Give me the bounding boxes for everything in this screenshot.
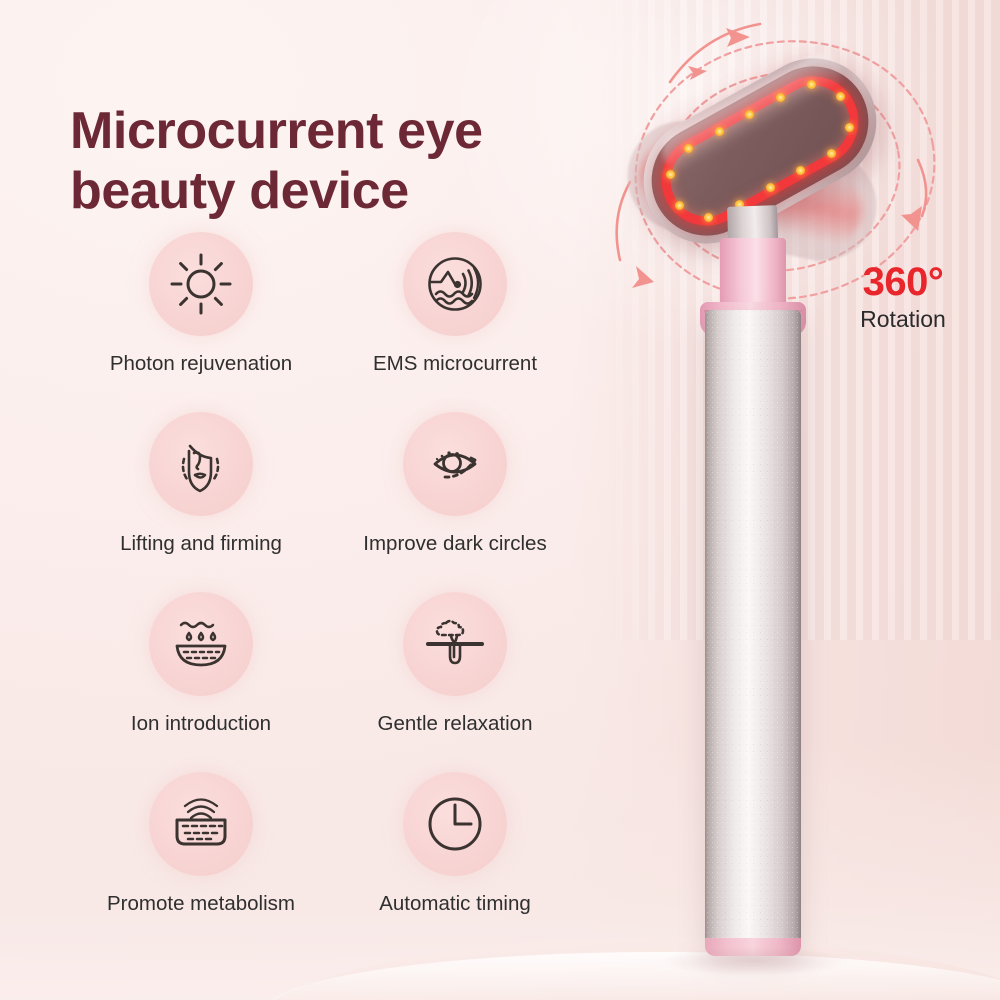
product-poster: Microcurrent eye beauty device bbox=[0, 0, 1000, 1000]
feature-label: Photon rejuvenation bbox=[110, 352, 292, 376]
led-dot bbox=[684, 144, 693, 153]
icon-bubble bbox=[403, 592, 507, 696]
icon-bubble bbox=[149, 772, 253, 876]
ion-droplet-icon bbox=[169, 612, 233, 676]
feature-item-promote-metabolism: Promote metabolism bbox=[74, 772, 328, 952]
title-line-1: Microcurrent eye bbox=[70, 101, 630, 161]
sun-icon bbox=[169, 252, 233, 316]
eye-icon bbox=[423, 432, 487, 496]
device-handle bbox=[705, 310, 801, 950]
clock-icon bbox=[423, 792, 487, 856]
feature-item-photon-rejuvenation: Photon rejuvenation bbox=[74, 232, 328, 412]
feature-item-gentle-relaxation: Gentle relaxation bbox=[328, 592, 582, 772]
product-device-image: 360° Rotation bbox=[600, 10, 1000, 1000]
feature-row-4: Promote metabolism Automatic timing bbox=[74, 772, 594, 952]
handle-texture bbox=[705, 310, 801, 950]
feature-label: Automatic timing bbox=[379, 892, 531, 916]
feature-label: Promote metabolism bbox=[107, 892, 295, 916]
icon-bubble bbox=[149, 232, 253, 336]
led-dot bbox=[766, 183, 775, 192]
skin-wave-icon bbox=[169, 792, 233, 856]
feature-label: Lifting and firming bbox=[120, 532, 282, 556]
icon-bubble bbox=[149, 592, 253, 696]
rotation-badge: 360° Rotation bbox=[843, 262, 963, 334]
rotation-degrees: 360° bbox=[843, 262, 963, 302]
title-line-2: beauty device bbox=[70, 161, 630, 221]
led-dot bbox=[666, 170, 675, 179]
feature-item-ems-microcurrent: EMS microcurrent bbox=[328, 232, 582, 412]
icon-bubble bbox=[403, 412, 507, 516]
feature-row-2: Lifting and firming Improve dark bbox=[74, 412, 594, 592]
feature-label: EMS microcurrent bbox=[373, 352, 537, 376]
feature-item-ion-introduction: Ion introduction bbox=[74, 592, 328, 772]
icon-bubble bbox=[403, 232, 507, 336]
feature-row-1: Photon rejuvenation EMS microcurr bbox=[74, 232, 594, 412]
page-title: Microcurrent eye beauty device bbox=[70, 101, 630, 222]
device-shadow bbox=[660, 946, 850, 976]
feature-row-3: Ion introduction Gentle relaxation bbox=[74, 592, 594, 772]
led-dot bbox=[776, 93, 785, 102]
feature-label: Ion introduction bbox=[131, 712, 271, 736]
led-dot bbox=[827, 149, 836, 158]
rotation-caption: Rotation bbox=[843, 305, 963, 334]
feature-item-automatic-timing: Automatic timing bbox=[328, 772, 582, 952]
feature-list: Photon rejuvenation EMS microcurr bbox=[74, 232, 594, 952]
face-lifting-icon bbox=[169, 432, 233, 496]
feature-item-improve-dark-circles: Improve dark circles bbox=[328, 412, 582, 592]
icon-bubble bbox=[403, 772, 507, 876]
feature-item-lifting-and-firming: Lifting and firming bbox=[74, 412, 328, 592]
feature-label: Improve dark circles bbox=[363, 532, 546, 556]
led-dot bbox=[807, 80, 816, 89]
led-dot bbox=[715, 127, 724, 136]
ems-wave-icon bbox=[423, 252, 487, 316]
pore-relax-icon bbox=[423, 612, 487, 676]
led-dot bbox=[675, 201, 684, 210]
feature-label: Gentle relaxation bbox=[378, 712, 533, 736]
icon-bubble bbox=[149, 412, 253, 516]
